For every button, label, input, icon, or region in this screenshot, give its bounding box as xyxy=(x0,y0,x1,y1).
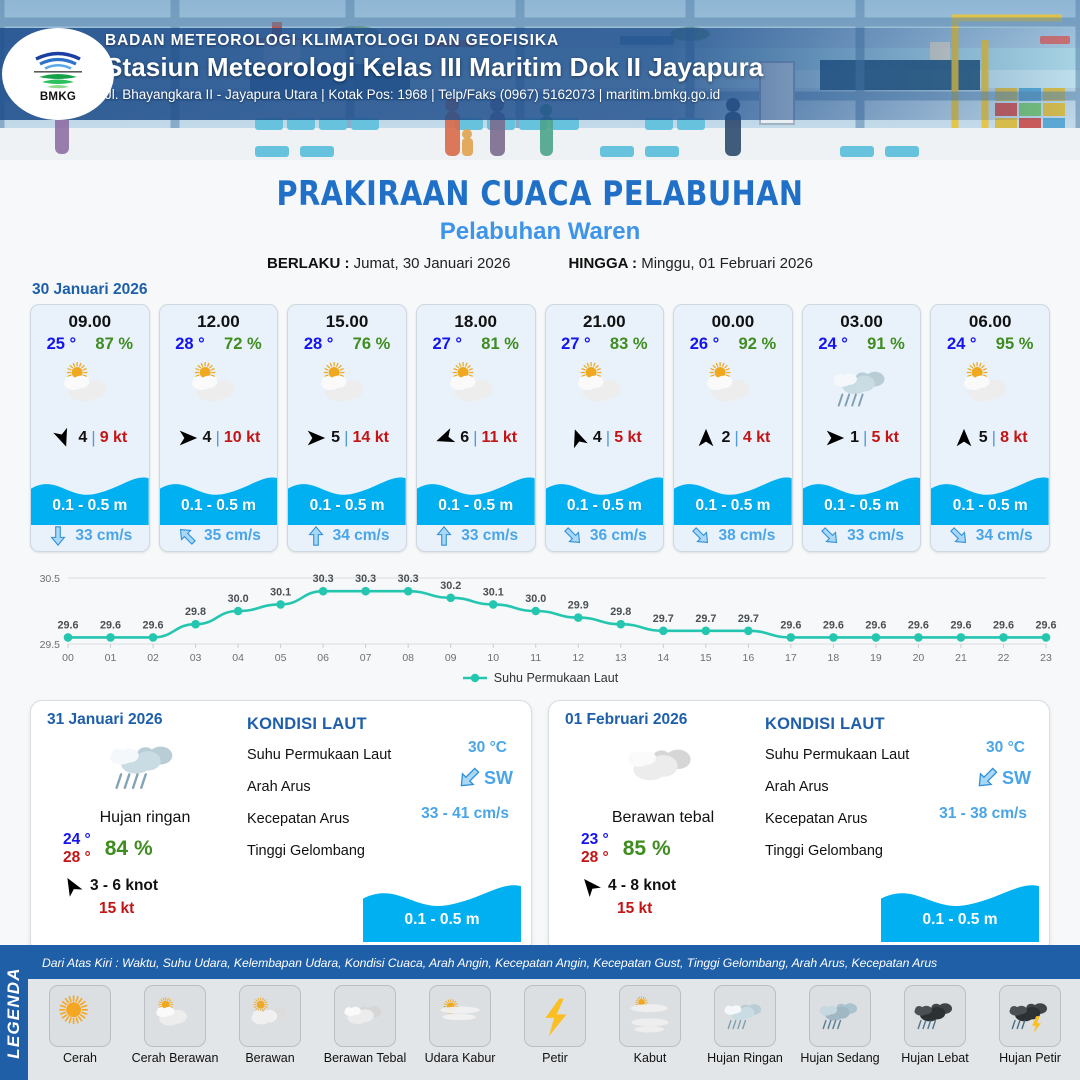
wind-info: 6 | 11 kt xyxy=(417,423,535,453)
berawan-icon xyxy=(247,995,293,1037)
svg-text:21: 21 xyxy=(955,652,967,664)
bmkg-logo: BMKG xyxy=(2,28,114,120)
station-contact: Jl. Bhayangkara II - Jayapura Utara | Ko… xyxy=(105,87,763,102)
cerah-berawan-icon xyxy=(186,359,250,418)
wind-speed: 1 xyxy=(850,429,859,447)
daily-wave-height-band: 0.1 - 0.5 m xyxy=(363,880,521,942)
sst-chart: 30.529.500010203040506070809101112131415… xyxy=(20,564,1060,692)
wave-height-band: 0.1 - 0.5 m xyxy=(160,473,278,525)
svg-text:29.7: 29.7 xyxy=(738,613,759,625)
current-direction-value: SW xyxy=(974,765,1031,791)
validity-row: BERLAKU : Jumat, 30 Januari 2026 HINGGA … xyxy=(0,255,1080,272)
svg-text:08: 08 xyxy=(402,652,414,664)
forecast-card: 15.00 28 ° 76 % 5 | 14 kt 0 xyxy=(287,304,407,552)
wind-separator: | xyxy=(992,428,996,448)
legend-item: Hujan Sedang xyxy=(794,985,886,1065)
sea-condition-rows: Suhu Permukaan LautArah ArusKecepatan Ar… xyxy=(247,739,517,867)
hujan-petir-icon xyxy=(1007,995,1053,1037)
wave-height-value: 0.1 - 0.5 m xyxy=(417,497,535,515)
wave-height-band: 0.1 - 0.5 m xyxy=(931,473,1049,525)
current-speed: 36 cm/s xyxy=(590,527,647,545)
svg-text:29.6: 29.6 xyxy=(993,619,1014,631)
wind-gust: 8 kt xyxy=(1000,429,1028,447)
legend-item: Hujan Lebat xyxy=(889,985,981,1065)
forecast-time: 09.00 xyxy=(31,305,149,332)
daily-temp-max: 28 ° xyxy=(63,849,91,867)
current-speed: 33 cm/s xyxy=(847,527,904,545)
current-speed: 33 cm/s xyxy=(461,527,518,545)
weather-condition-icon-wrap xyxy=(931,355,1049,421)
svg-text:29.6: 29.6 xyxy=(143,619,164,631)
daily-summary-panel: 01 Februari 2026 Berawan tebal 23 ° 28 °… xyxy=(548,700,1050,953)
current-info: 38 cm/s xyxy=(674,525,792,547)
svg-text:19: 19 xyxy=(870,652,882,664)
wind-info: 5 | 14 kt xyxy=(288,423,406,453)
cerah-berawan-icon xyxy=(58,359,122,418)
daily-summary-row: 31 Januari 2026 Hujan ringan 24 ° 28 ° 8… xyxy=(0,692,1080,953)
forecast-time: 21.00 xyxy=(546,305,664,332)
svg-text:29.6: 29.6 xyxy=(100,619,121,631)
svg-text:29.6: 29.6 xyxy=(950,619,971,631)
daily-temperature-humidity: 23 ° 28 ° 85 % xyxy=(565,831,761,867)
weather-condition-icon-wrap xyxy=(288,355,406,421)
port-name: Pelabuhan Waren xyxy=(0,218,1080,246)
sea-surface-temperature-value: 30 °C xyxy=(468,739,507,757)
petir-icon xyxy=(532,995,578,1037)
svg-text:02: 02 xyxy=(147,652,159,664)
daily-temp-min: 24 ° xyxy=(63,831,91,849)
chart-legend-label: Suhu Permukaan Laut xyxy=(494,671,618,685)
sea-condition-row-label: Tinggi Gelombang xyxy=(765,835,1035,867)
legend-item-label: Hujan Sedang xyxy=(800,1051,879,1065)
svg-text:30.0: 30.0 xyxy=(525,593,546,605)
wind-separator: | xyxy=(215,428,219,448)
wind-info: 4 | 9 kt xyxy=(31,423,149,453)
wave-height-band: 0.1 - 0.5 m xyxy=(803,473,921,525)
svg-text:14: 14 xyxy=(657,652,669,664)
daily-wind-gust: 15 kt xyxy=(565,900,761,918)
chart-legend-marker-icon xyxy=(462,672,488,684)
page-title: PRAKIRAAN CUACA PELABUHAN xyxy=(32,174,1047,214)
sst-chart-plot: 30.529.500010203040506070809101112131415… xyxy=(20,564,1060,670)
wind-separator: | xyxy=(344,428,348,448)
weather-condition-icon-wrap xyxy=(546,355,664,421)
daily-temp-max: 28 ° xyxy=(581,849,609,867)
air-temperature: 24 ° xyxy=(947,335,977,354)
svg-text:30.3: 30.3 xyxy=(398,573,419,585)
current-direction-arrow-icon xyxy=(176,525,198,547)
cerah-berawan-icon xyxy=(572,359,636,418)
legend-icon-box xyxy=(904,985,966,1047)
kabut-icon xyxy=(627,995,673,1037)
sea-surface-temperature-value: 30 °C xyxy=(986,739,1025,757)
wind-separator: | xyxy=(734,428,738,448)
svg-text:29.5: 29.5 xyxy=(40,639,61,651)
current-direction-arrow-icon xyxy=(562,525,584,547)
wind-info: 5 | 8 kt xyxy=(931,423,1049,453)
svg-text:06: 06 xyxy=(317,652,329,664)
daily-wind-speed: 4 - 8 knot xyxy=(608,877,676,895)
daily-humidity: 84 % xyxy=(105,837,153,861)
legend-item-label: Hujan Ringan xyxy=(707,1051,783,1065)
air-temperature: 25 ° xyxy=(47,335,77,354)
legend-item: Kabut xyxy=(604,985,696,1065)
current-direction-arrow-icon xyxy=(819,525,841,547)
legend-inner: Dari Atas Kiri : Waktu, Suhu Udara, Kele… xyxy=(28,945,1080,1080)
svg-text:30.1: 30.1 xyxy=(270,586,291,598)
cerah-berawan-icon xyxy=(444,359,508,418)
daily-wave-height-value: 0.1 - 0.5 m xyxy=(363,911,521,929)
forecast-card: 12.00 28 ° 72 % 4 | 10 kt 0 xyxy=(159,304,279,552)
svg-text:13: 13 xyxy=(615,652,627,664)
daily-sea-column: KONDISI LAUT Suhu Permukaan LautArah Aru… xyxy=(243,701,531,952)
forecast-card: 03.00 24 ° 91 % 1 | 5 kt xyxy=(802,304,922,552)
legend-item-label: Berawan xyxy=(245,1051,294,1065)
svg-text:11: 11 xyxy=(530,652,541,664)
wind-speed: 5 xyxy=(979,429,988,447)
svg-text:03: 03 xyxy=(190,652,202,664)
forecast-card: 18.00 27 ° 81 % 6 | 11 kt 0 xyxy=(416,304,536,552)
daily-left-column: 01 Februari 2026 Berawan tebal 23 ° 28 °… xyxy=(549,701,761,952)
current-speed: 34 cm/s xyxy=(976,527,1033,545)
svg-text:20: 20 xyxy=(913,652,925,664)
current-direction-arrow-icon xyxy=(690,525,712,547)
svg-text:30.3: 30.3 xyxy=(313,573,334,585)
daily-date: 31 Januari 2026 xyxy=(47,711,243,729)
chart-legend: Suhu Permukaan Laut xyxy=(20,671,1060,685)
header-text-block: BADAN METEOROLOGI KLIMATOLOGI DAN GEOFIS… xyxy=(105,32,763,102)
forecast-temp-humidity: 27 ° 81 % xyxy=(417,332,535,354)
current-info: 33 cm/s xyxy=(803,525,921,547)
wave-height-value: 0.1 - 0.5 m xyxy=(31,497,149,515)
weather-condition-icon-wrap xyxy=(31,355,149,421)
daily-wave-height-value: 0.1 - 0.5 m xyxy=(881,911,1039,929)
forecast-time: 06.00 xyxy=(931,305,1049,332)
svg-text:29.6: 29.6 xyxy=(865,619,886,631)
forecast-temp-humidity: 24 ° 95 % xyxy=(931,332,1049,354)
legend-icon-box xyxy=(429,985,491,1047)
svg-text:30.5: 30.5 xyxy=(40,573,61,585)
berawan-tebal-icon xyxy=(624,731,702,803)
legend-vertical-label: LEGENDA xyxy=(0,945,28,1080)
current-info: 33 cm/s xyxy=(417,525,535,547)
wind-direction-arrow-icon xyxy=(695,427,717,449)
legend-item-row: Cerah Cerah Berawan Berawan xyxy=(28,979,1080,1080)
cerah-berawan-icon xyxy=(701,359,765,418)
udara-kabur-icon xyxy=(437,995,483,1037)
legend-item-label: Berawan Tebal xyxy=(324,1051,406,1065)
wave-height-band: 0.1 - 0.5 m xyxy=(417,473,535,525)
legend-item-label: Kabut xyxy=(634,1051,667,1065)
valid-from-label: BERLAKU : xyxy=(267,255,350,272)
air-temperature: 28 ° xyxy=(175,335,205,354)
wave-height-band: 0.1 - 0.5 m xyxy=(674,473,792,525)
forecast-temp-humidity: 25 ° 87 % xyxy=(31,332,149,354)
cerah-berawan-icon xyxy=(152,995,198,1037)
svg-text:30.3: 30.3 xyxy=(355,573,376,585)
wind-direction-arrow-icon xyxy=(61,875,83,897)
cerah-berawan-icon xyxy=(958,359,1022,418)
agency-name: BADAN METEOROLOGI KLIMATOLOGI DAN GEOFIS… xyxy=(105,32,763,50)
weather-condition-icon-wrap xyxy=(674,355,792,421)
hujan-sedang-icon xyxy=(817,995,863,1037)
legend-item: Udara Kabur xyxy=(414,985,506,1065)
page-header: BMKG BADAN METEOROLOGI KLIMATOLOGI DAN G… xyxy=(0,0,1080,160)
daily-wave-height-band: 0.1 - 0.5 m xyxy=(881,880,1039,942)
svg-text:29.7: 29.7 xyxy=(695,613,716,625)
wind-direction-arrow-icon xyxy=(567,427,589,449)
svg-text:10: 10 xyxy=(487,652,499,664)
current-direction-label: SW xyxy=(484,768,513,789)
wind-gust: 5 kt xyxy=(614,429,642,447)
wind-direction-arrow-icon xyxy=(824,427,846,449)
svg-text:18: 18 xyxy=(828,652,840,664)
sea-condition-row-label: Tinggi Gelombang xyxy=(247,835,517,867)
weather-condition-icon-wrap xyxy=(803,355,921,421)
forecast-card: 00.00 26 ° 92 % 2 | 4 kt 0. xyxy=(673,304,793,552)
daily-wind-info: 4 - 8 knot xyxy=(565,875,761,897)
current-direction-arrow-icon xyxy=(433,525,455,547)
legend-item: Hujan Ringan xyxy=(699,985,791,1065)
wind-speed: 6 xyxy=(460,429,469,447)
weather-condition-icon-wrap xyxy=(160,355,278,421)
wave-height-band: 0.1 - 0.5 m xyxy=(546,473,664,525)
svg-text:29.6: 29.6 xyxy=(780,619,801,631)
legend-item: Cerah xyxy=(34,985,126,1065)
current-speed: 33 cm/s xyxy=(75,527,132,545)
current-speed: 38 cm/s xyxy=(718,527,775,545)
legend-icon-box xyxy=(49,985,111,1047)
current-info: 36 cm/s xyxy=(546,525,664,547)
svg-text:29.6: 29.6 xyxy=(908,619,929,631)
daily-temperature-humidity: 24 ° 28 ° 84 % xyxy=(47,831,243,867)
cerah-berawan-icon xyxy=(315,359,379,418)
legend-item: Cerah Berawan xyxy=(129,985,221,1065)
svg-text:23: 23 xyxy=(1040,652,1052,664)
legend-item-label: Petir xyxy=(542,1051,568,1065)
station-name: Stasiun Meteorologi Kelas III Maritim Do… xyxy=(105,52,763,83)
forecast-card-row: 09.00 25 ° 87 % 4 | 9 kt 0. xyxy=(0,304,1080,552)
svg-text:29.7: 29.7 xyxy=(653,613,674,625)
wave-height-value: 0.1 - 0.5 m xyxy=(546,497,664,515)
wind-gust: 9 kt xyxy=(100,429,128,447)
current-direction-value: SW xyxy=(456,765,513,791)
svg-text:07: 07 xyxy=(360,652,372,664)
current-speed-value: 33 - 41 cm/s xyxy=(421,805,509,823)
daily-sea-column: KONDISI LAUT Suhu Permukaan LautArah Aru… xyxy=(761,701,1049,952)
wind-direction-arrow-icon xyxy=(434,427,456,449)
wind-info: 4 | 10 kt xyxy=(160,423,278,453)
svg-text:30.1: 30.1 xyxy=(483,586,504,598)
legend-icon-box xyxy=(144,985,206,1047)
legend-icon-box xyxy=(524,985,586,1047)
svg-text:30.0: 30.0 xyxy=(228,593,249,605)
current-info: 34 cm/s xyxy=(931,525,1049,547)
daily-temp-min: 23 ° xyxy=(581,831,609,849)
daily-humidity: 85 % xyxy=(623,837,671,861)
svg-text:16: 16 xyxy=(743,652,755,664)
svg-text:29.6: 29.6 xyxy=(57,619,78,631)
svg-text:00: 00 xyxy=(62,652,74,664)
air-temperature: 27 ° xyxy=(432,335,462,354)
svg-text:29.8: 29.8 xyxy=(610,606,631,618)
hujan-lebat-icon xyxy=(912,995,958,1037)
wind-gust: 11 kt xyxy=(482,429,518,447)
forecast-temp-humidity: 27 ° 83 % xyxy=(546,332,664,354)
title-block: PRAKIRAAN CUACA PELABUHAN Pelabuhan Ware… xyxy=(0,160,1080,272)
daily-weather-icon-wrap xyxy=(565,731,761,803)
wind-gust: 10 kt xyxy=(224,429,260,447)
legend-icon-box xyxy=(239,985,301,1047)
daily-wind-info: 3 - 6 knot xyxy=(47,875,243,897)
daily-temp-range: 23 ° 28 ° xyxy=(581,831,609,867)
daily-temp-range: 24 ° 28 ° xyxy=(63,831,91,867)
wave-height-value: 0.1 - 0.5 m xyxy=(160,497,278,515)
svg-text:29.8: 29.8 xyxy=(185,606,206,618)
wind-speed: 4 xyxy=(593,429,602,447)
current-speed: 35 cm/s xyxy=(204,527,261,545)
wave-height-value: 0.1 - 0.5 m xyxy=(288,497,406,515)
wave-height-value: 0.1 - 0.5 m xyxy=(674,497,792,515)
sea-condition-title: KONDISI LAUT xyxy=(765,715,1035,734)
daily-wind-speed: 3 - 6 knot xyxy=(90,877,158,895)
daily-date: 01 Februari 2026 xyxy=(565,711,761,729)
wind-separator: | xyxy=(863,428,867,448)
wind-info: 4 | 5 kt xyxy=(546,423,664,453)
current-info: 34 cm/s xyxy=(288,525,406,547)
svg-text:30.2: 30.2 xyxy=(440,580,461,592)
legend-item-label: Hujan Petir xyxy=(999,1051,1061,1065)
legend-vertical-label-text: LEGENDA xyxy=(4,967,24,1059)
legend-item: Berawan Tebal xyxy=(319,985,411,1065)
wind-direction-arrow-icon xyxy=(177,427,199,449)
forecast-card: 09.00 25 ° 87 % 4 | 9 kt 0. xyxy=(30,304,150,552)
forecast-temp-humidity: 28 ° 76 % xyxy=(288,332,406,354)
wind-speed: 2 xyxy=(721,429,730,447)
svg-text:12: 12 xyxy=(572,652,584,664)
current-speed: 34 cm/s xyxy=(333,527,390,545)
relative-humidity: 83 % xyxy=(610,335,648,354)
berawan-tebal-icon xyxy=(342,995,388,1037)
daily-weather-condition: Berawan tebal xyxy=(565,809,761,827)
wind-gust: 4 kt xyxy=(743,429,771,447)
svg-text:29.9: 29.9 xyxy=(568,600,589,612)
valid-from: BERLAKU : Jumat, 30 Januari 2026 xyxy=(267,255,510,272)
hujan-ringan-icon xyxy=(830,359,894,418)
bmkg-logo-mark xyxy=(30,46,86,90)
legend-icon-box xyxy=(714,985,776,1047)
current-direction-arrow-icon xyxy=(47,525,69,547)
legend-item-label: Cerah xyxy=(63,1051,97,1065)
current-direction-arrow-icon xyxy=(305,525,327,547)
air-temperature: 24 ° xyxy=(818,335,848,354)
forecast-time: 03.00 xyxy=(803,305,921,332)
svg-text:05: 05 xyxy=(275,652,287,664)
wind-speed: 4 xyxy=(78,429,87,447)
valid-to-value: Minggu, 01 Februari 2026 xyxy=(641,255,813,272)
wind-direction-arrow-icon xyxy=(305,427,327,449)
wind-info: 1 | 5 kt xyxy=(803,423,921,453)
sea-condition-title: KONDISI LAUT xyxy=(247,715,517,734)
wave-height-band: 0.1 - 0.5 m xyxy=(31,473,149,525)
wind-gust: 14 kt xyxy=(352,429,388,447)
valid-to-label: HINGGA : xyxy=(568,255,637,272)
svg-text:22: 22 xyxy=(998,652,1010,664)
legend-icon-box xyxy=(809,985,871,1047)
wind-separator: | xyxy=(606,428,610,448)
svg-text:17: 17 xyxy=(785,652,797,664)
bmkg-logo-text: BMKG xyxy=(40,91,76,103)
wind-direction-arrow-icon xyxy=(52,427,74,449)
legend-item-label: Cerah Berawan xyxy=(132,1051,219,1065)
daily-weather-condition: Hujan ringan xyxy=(47,809,243,827)
forecast-temp-humidity: 26 ° 92 % xyxy=(674,332,792,354)
wind-separator: | xyxy=(473,428,477,448)
forecast-card: 06.00 24 ° 95 % 5 | 8 kt 0. xyxy=(930,304,1050,552)
cerah-icon xyxy=(57,995,103,1037)
svg-text:29.6: 29.6 xyxy=(1035,619,1056,631)
legend-section: LEGENDA Dari Atas Kiri : Waktu, Suhu Uda… xyxy=(0,945,1080,1080)
wave-height-value: 0.1 - 0.5 m xyxy=(803,497,921,515)
current-direction-arrow-icon xyxy=(974,765,1000,791)
air-temperature: 26 ° xyxy=(690,335,720,354)
forecast-time: 12.00 xyxy=(160,305,278,332)
wind-direction-arrow-icon xyxy=(579,875,601,897)
current-info: 33 cm/s xyxy=(31,525,149,547)
legend-item-label: Udara Kabur xyxy=(425,1051,496,1065)
relative-humidity: 76 % xyxy=(353,335,391,354)
wind-speed: 5 xyxy=(331,429,340,447)
relative-humidity: 72 % xyxy=(224,335,262,354)
daily-left-column: 31 Januari 2026 Hujan ringan 24 ° 28 ° 8… xyxy=(31,701,243,952)
relative-humidity: 91 % xyxy=(867,335,905,354)
svg-text:09: 09 xyxy=(445,652,457,664)
legend-item: Berawan xyxy=(224,985,316,1065)
valid-from-value: Jumat, 30 Januari 2026 xyxy=(354,255,511,272)
forecast-temp-humidity: 24 ° 91 % xyxy=(803,332,921,354)
legend-icon-box xyxy=(619,985,681,1047)
legend-icon-box xyxy=(334,985,396,1047)
valid-to: HINGGA : Minggu, 01 Februari 2026 xyxy=(568,255,813,272)
daily-wind-gust: 15 kt xyxy=(47,900,243,918)
forecast-date-label: 30 Januari 2026 xyxy=(32,281,1080,299)
wind-separator: | xyxy=(91,428,95,448)
daily-summary-panel: 31 Januari 2026 Hujan ringan 24 ° 28 ° 8… xyxy=(30,700,532,953)
air-temperature: 27 ° xyxy=(561,335,591,354)
svg-text:29.6: 29.6 xyxy=(823,619,844,631)
forecast-temp-humidity: 28 ° 72 % xyxy=(160,332,278,354)
wave-height-value: 0.1 - 0.5 m xyxy=(931,497,1049,515)
forecast-time: 15.00 xyxy=(288,305,406,332)
legend-item-label: Hujan Lebat xyxy=(901,1051,968,1065)
svg-text:04: 04 xyxy=(232,652,244,664)
wave-height-band: 0.1 - 0.5 m xyxy=(288,473,406,525)
current-info: 35 cm/s xyxy=(160,525,278,547)
legend-note: Dari Atas Kiri : Waktu, Suhu Udara, Kele… xyxy=(28,945,1080,970)
current-speed-value: 31 - 38 cm/s xyxy=(939,805,1027,823)
daily-weather-icon-wrap xyxy=(47,731,243,803)
current-direction-arrow-icon xyxy=(948,525,970,547)
sea-condition-rows: Suhu Permukaan LautArah ArusKecepatan Ar… xyxy=(765,739,1035,867)
forecast-card: 21.00 27 ° 83 % 4 | 5 kt 0. xyxy=(545,304,665,552)
relative-humidity: 87 % xyxy=(95,335,133,354)
current-direction-label: SW xyxy=(1002,768,1031,789)
svg-text:01: 01 xyxy=(105,652,117,664)
wind-speed: 4 xyxy=(203,429,212,447)
legend-item: Petir xyxy=(509,985,601,1065)
wind-info: 2 | 4 kt xyxy=(674,423,792,453)
relative-humidity: 92 % xyxy=(739,335,777,354)
